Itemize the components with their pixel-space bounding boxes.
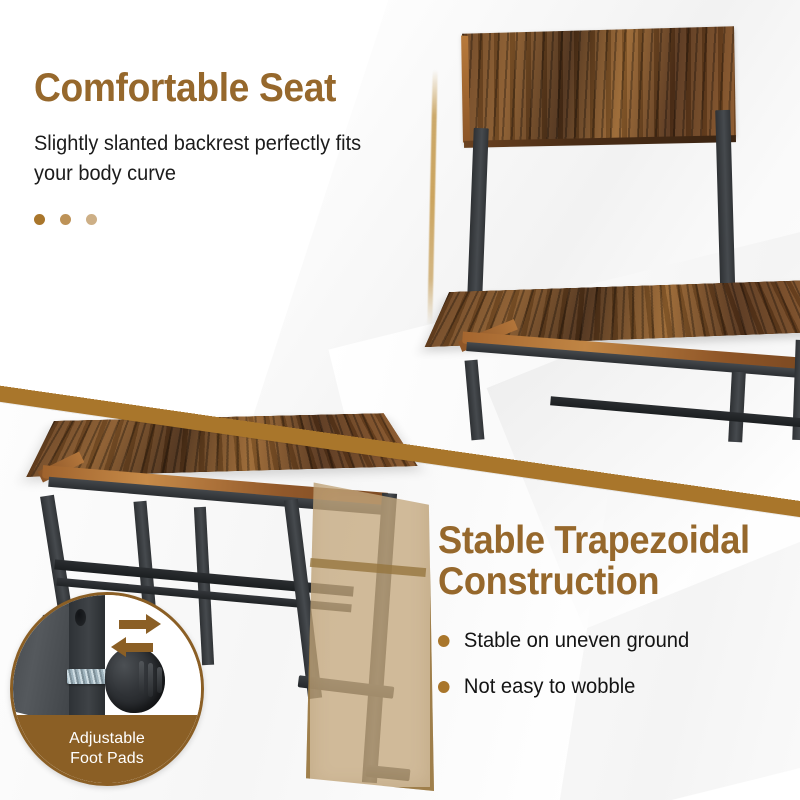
- top-left-text-block: Comfortable Seat Slightly slanted backre…: [34, 68, 424, 225]
- chair-leg-front-right: [728, 372, 746, 443]
- knob-rib-3: [157, 667, 162, 693]
- trapezoid-highlight-overlay: [306, 473, 434, 791]
- knob-rib-1: [139, 661, 144, 695]
- upper-chair-image: [430, 0, 800, 430]
- chair-stretcher-bar: [550, 396, 800, 428]
- subtext-backrest-description: Slightly slanted backrest perfectly fits…: [34, 129, 405, 189]
- chair-leg-front-left: [465, 360, 485, 441]
- dot-3-icon: [86, 214, 97, 225]
- backrest-wood-face: [462, 26, 736, 144]
- leg-bolt-hole: [75, 609, 86, 626]
- leg-side-face: [69, 592, 105, 733]
- bottom-right-text-block: Stable Trapezoidal Construction Stable o…: [438, 520, 794, 721]
- callout-label-band: Adjustable Foot Pads: [13, 715, 201, 783]
- bullet-dot-icon: [438, 681, 450, 693]
- chair-backrest-panel: [462, 26, 736, 144]
- callout-label-line-1: Adjustable: [69, 729, 145, 749]
- arrow-right-icon: [119, 620, 147, 629]
- headline-stable-trapezoidal: Stable Trapezoidal Construction: [438, 520, 769, 603]
- adjustable-foot-pads-callout: Adjustable Foot Pads: [10, 592, 204, 786]
- callout-label-line-2: Foot Pads: [70, 749, 144, 769]
- decorative-dot-group: [34, 214, 424, 225]
- knob-rib-2: [148, 663, 153, 697]
- headline-line-1: Stable Trapezoidal: [438, 519, 750, 562]
- bullet-dot-icon: [438, 635, 450, 647]
- list-item: Not easy to wobble: [438, 675, 780, 699]
- product-feature-graphic: Comfortable Seat Slightly slanted backre…: [0, 0, 800, 800]
- list-item: Stable on uneven ground: [438, 629, 780, 653]
- dot-1-icon: [34, 214, 45, 225]
- bullet-text: Not easy to wobble: [464, 675, 635, 699]
- dot-2-icon: [60, 214, 71, 225]
- headline-line-2: Construction: [438, 560, 659, 603]
- bullet-text: Stable on uneven ground: [464, 629, 689, 653]
- headline-comfortable-seat: Comfortable Seat: [34, 68, 397, 109]
- feature-bullet-list: Stable on uneven ground Not easy to wobb…: [438, 629, 794, 699]
- arrow-left-icon: [125, 643, 153, 652]
